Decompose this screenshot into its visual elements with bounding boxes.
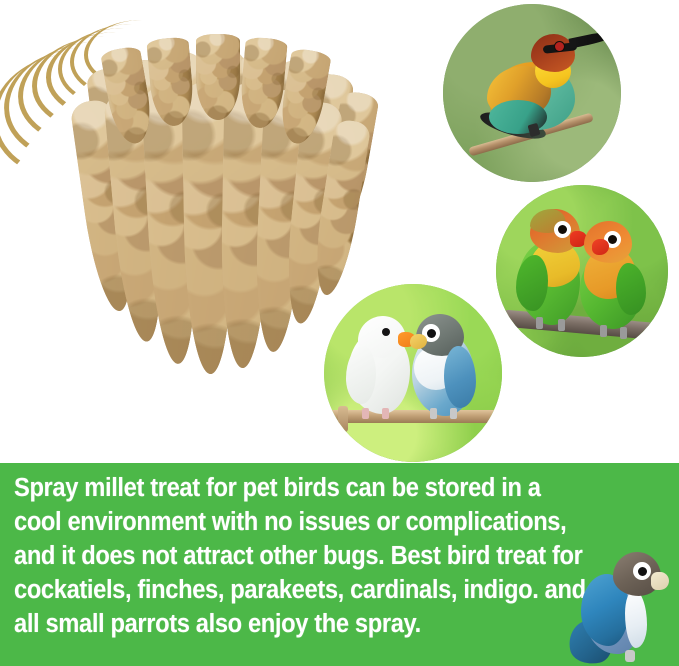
bird-photo-white-and-blue-lovebirds bbox=[324, 284, 502, 462]
banner-description-text: Spray millet treat for pet birds can be … bbox=[14, 471, 591, 641]
bird-photo-bee-eater bbox=[443, 4, 621, 182]
banner-parrot-image bbox=[567, 546, 671, 666]
photo-area bbox=[0, 0, 679, 463]
bird-photo-fischers-lovebirds bbox=[496, 185, 668, 357]
product-image: Spray millet treat for pet birds can be … bbox=[0, 0, 679, 666]
description-banner: Spray millet treat for pet birds can be … bbox=[0, 463, 679, 666]
